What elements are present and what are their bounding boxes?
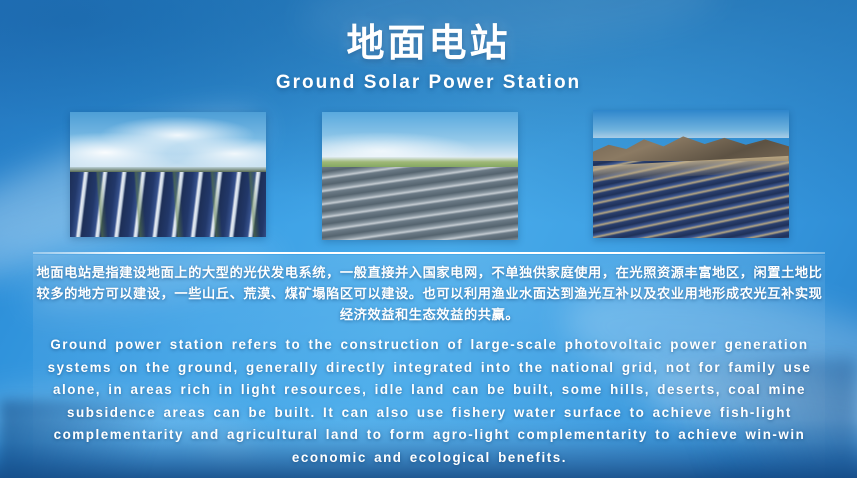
- description-block: 地面电站是指建设地面上的大型的光伏发电系统，一般直接并入国家电网，不单独供家庭使…: [30, 262, 829, 469]
- photo-1-sky: [70, 112, 266, 170]
- description-paragraph-english: Ground power station refers to the const…: [30, 334, 829, 469]
- photo-2-panel-rows: [322, 167, 518, 240]
- section-divider-line: [33, 252, 825, 254]
- mountain-desert-solar-photo: [593, 110, 789, 238]
- solar-panel-field-photo: [70, 112, 266, 237]
- photo-2-sky: [322, 112, 518, 158]
- description-paragraph-chinese: 地面电站是指建设地面上的大型的光伏发电系统，一般直接并入国家电网，不单独供家庭使…: [30, 262, 829, 325]
- photo-1-grass-rows: [70, 172, 266, 237]
- photo-gallery: [0, 0, 857, 250]
- photo-3-sky: [593, 110, 789, 138]
- aerial-solar-farm-photo: [322, 112, 518, 240]
- slide-root: 地面电站 Ground Solar Power Station 地面电站是指建设…: [0, 0, 857, 478]
